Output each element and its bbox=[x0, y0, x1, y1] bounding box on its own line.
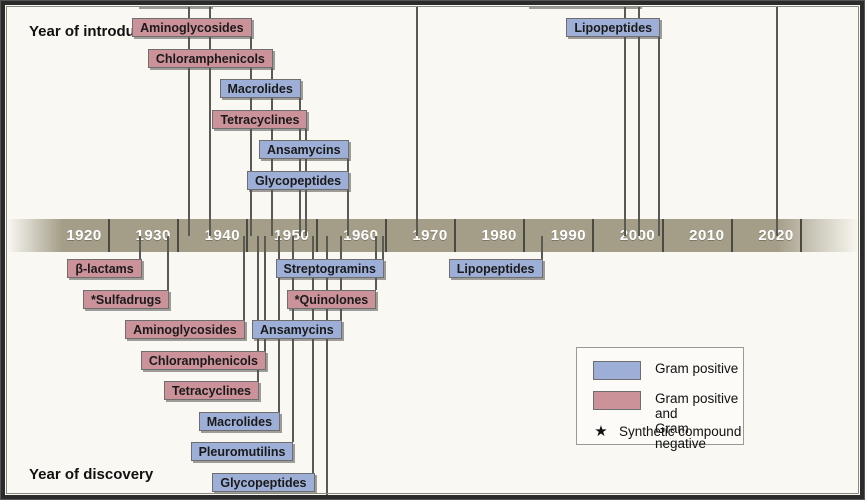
timeline-connector-top-11 bbox=[658, 37, 660, 236]
legend-row-gram-positive-and-negative: Gram positive and Gram negative bbox=[593, 391, 743, 451]
timeline-bar-top-3[interactable]: Chloramphenicols bbox=[148, 49, 273, 68]
axis-tick-1960 bbox=[385, 219, 387, 252]
timeline-bar-top-2[interactable]: Aminoglycosides bbox=[132, 18, 252, 37]
timeline-bar-bottom-0[interactable]: β-lactams bbox=[67, 259, 141, 278]
timeline-bar-label: Tetracyclines bbox=[220, 113, 299, 127]
timeline-bar-bottom-7[interactable]: Glycopeptides bbox=[212, 473, 314, 492]
axis-year-label-2010: 2010 bbox=[689, 227, 724, 244]
legend-swatch-gram-positive bbox=[593, 361, 641, 380]
timeline-bar-bottom-12[interactable]: Lipopeptides bbox=[449, 259, 543, 278]
axis-tick-1940 bbox=[246, 219, 248, 252]
axis-tick-2000 bbox=[662, 219, 664, 252]
timeline-bar-label: *Sulfadrugs bbox=[91, 293, 161, 307]
timeline-bar-label: Chloramphenicols bbox=[156, 52, 265, 66]
timeline-bar-bottom-9[interactable]: Ansamycins bbox=[252, 320, 342, 339]
legend-swatch-gram-positive-and-negative bbox=[593, 391, 641, 410]
timeline-connector-bottom-0 bbox=[139, 236, 141, 260]
timeline-connector-top-1 bbox=[209, 7, 211, 236]
timeline-bar-label: Streptogramins bbox=[284, 262, 376, 276]
legend-row-synthetic-compound: ★ Synthetic compound bbox=[593, 424, 741, 439]
timeline-bar-label: Pleuromutilins bbox=[199, 445, 286, 459]
antibiotic-timeline-figure: Year of introduction Year of discovery *… bbox=[0, 0, 865, 500]
timeline-connector-bottom-11 bbox=[382, 236, 384, 260]
axis-year-label-1990: 1990 bbox=[551, 227, 586, 244]
legend-label-synthetic-compound: Synthetic compound bbox=[619, 424, 741, 439]
timeline-connector-top-9 bbox=[624, 7, 626, 236]
page-title-discovery: Year of discovery bbox=[29, 466, 153, 483]
timeline-bar-bottom-2[interactable]: Aminoglycosides bbox=[125, 320, 245, 339]
timeline-bar-label: Chloramphenicols bbox=[149, 354, 258, 368]
axis-tick-1990 bbox=[592, 219, 594, 252]
timeline-connector-bottom-2 bbox=[243, 236, 245, 321]
timeline-bar-label: Tetracyclines bbox=[172, 384, 251, 398]
timeline-bar-label: Macrolides bbox=[228, 82, 293, 96]
timeline-connector-top-0 bbox=[188, 7, 190, 236]
timeline-bar-label: Ansamycins bbox=[260, 323, 334, 337]
timeline-bar-bottom-10[interactable]: *Quinolones bbox=[287, 290, 377, 309]
timeline-bar-bottom-3[interactable]: Chloramphenicols bbox=[141, 351, 266, 370]
axis-tick-2020 bbox=[800, 219, 802, 252]
chart-canvas: Year of introduction Year of discovery *… bbox=[7, 7, 860, 495]
timeline-connector-bottom-1 bbox=[167, 236, 169, 290]
axis-year-label-1920: 1920 bbox=[66, 227, 101, 244]
timeline-bar-label: Aminoglycosides bbox=[140, 21, 244, 35]
timeline-bar-bottom-5[interactable]: Macrolides bbox=[199, 412, 280, 431]
timeline-bar-bottom-6[interactable]: Pleuromutilins bbox=[191, 442, 294, 461]
timeline-connector-top-12 bbox=[776, 7, 778, 236]
timeline-bar-label: Lipopeptides bbox=[574, 21, 652, 35]
timeline-connector-bottom-12 bbox=[541, 236, 543, 260]
legend-box: Gram positive Gram positive and Gram neg… bbox=[576, 347, 744, 445]
axis-tick-1920 bbox=[108, 219, 110, 252]
axis-year-label-1980: 1980 bbox=[482, 227, 517, 244]
axis-tick-1980 bbox=[523, 219, 525, 252]
legend-row-gram-positive: Gram positive bbox=[593, 361, 738, 380]
axis-tick-1930 bbox=[177, 219, 179, 252]
axis-tick-1970 bbox=[454, 219, 456, 252]
timeline-bar-label: *Quinolones bbox=[295, 293, 369, 307]
timeline-bar-label: Glycopeptides bbox=[220, 476, 306, 490]
timeline-connector-top-8 bbox=[416, 7, 418, 236]
timeline-bar-label: β-lactams bbox=[75, 262, 133, 276]
timeline-bar-top-11[interactable]: Lipopeptides bbox=[566, 18, 660, 37]
legend-label-gram-positive-and-negative: Gram positive and Gram negative bbox=[655, 391, 743, 451]
timeline-bar-bottom-1[interactable]: *Sulfadrugs bbox=[83, 290, 169, 309]
timeline-bar-label: Lipopeptides bbox=[457, 262, 535, 276]
axis-tick-2010 bbox=[731, 219, 733, 252]
timeline-connector-top-10 bbox=[638, 7, 640, 236]
timeline-bar-label: Macrolides bbox=[207, 415, 272, 429]
timeline-connector-top-7 bbox=[347, 190, 349, 236]
timeline-bar-label: Glycopeptides bbox=[255, 174, 341, 188]
timeline-bar-top-7[interactable]: Glycopeptides bbox=[247, 171, 349, 190]
timeline-bar-label: Ansamycins bbox=[267, 143, 341, 157]
timeline-bar-top-5[interactable]: Tetracyclines bbox=[212, 110, 307, 129]
timeline-bar-top-6[interactable]: Ansamycins bbox=[259, 140, 349, 159]
timeline-bar-bottom-4[interactable]: Tetracyclines bbox=[164, 381, 259, 400]
axis-tick-1950 bbox=[316, 219, 318, 252]
timeline-bar-bottom-11[interactable]: Streptogramins bbox=[276, 259, 384, 278]
star-icon: ★ bbox=[593, 424, 609, 439]
timeline-bar-top-4[interactable]: Macrolides bbox=[220, 79, 301, 98]
legend-label-gram-positive: Gram positive bbox=[655, 361, 738, 376]
timeline-bar-label: Aminoglycosides bbox=[133, 323, 237, 337]
